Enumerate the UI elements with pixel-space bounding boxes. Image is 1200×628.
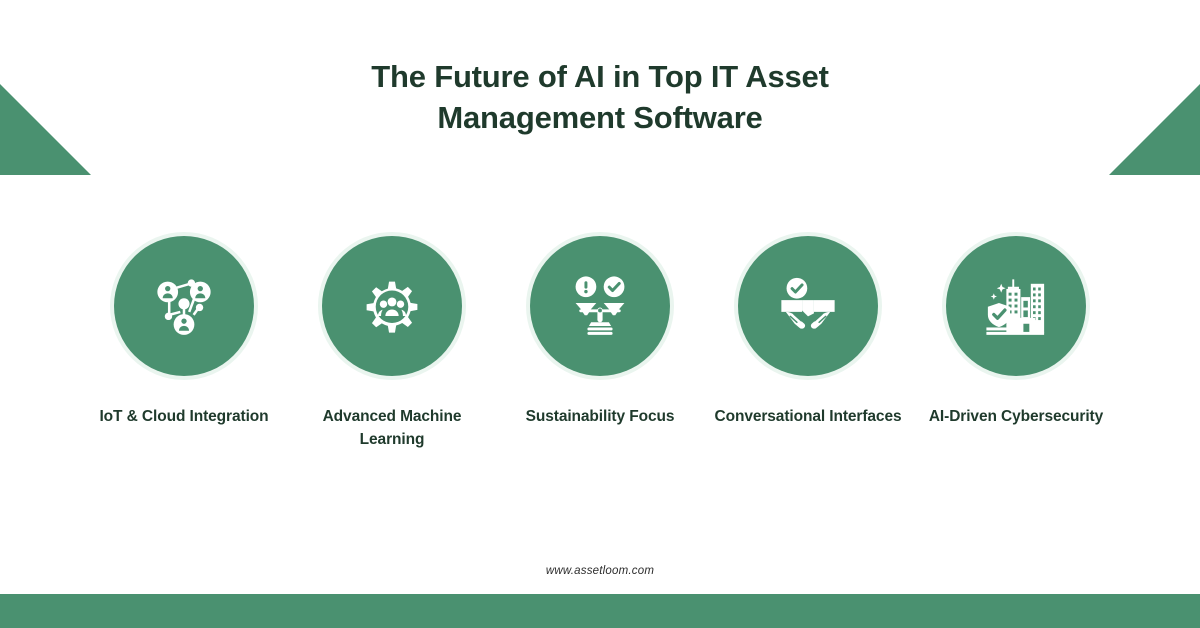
icon-disc	[946, 236, 1086, 376]
gear-people-icon	[355, 269, 429, 343]
list-item: Advanced Machine Learning	[288, 232, 496, 452]
city-shield-check-icon	[979, 269, 1053, 343]
icon-badge	[318, 232, 466, 380]
list-item: IoT & Cloud Integration	[80, 232, 288, 429]
bottom-bar	[0, 594, 1200, 628]
icon-disc	[114, 236, 254, 376]
icon-disc	[322, 236, 462, 376]
icon-badge	[110, 232, 258, 380]
top-right-stripe-decoration	[990, 0, 1200, 175]
list-item-label: Conversational Interfaces	[713, 406, 903, 429]
icon-disc	[530, 236, 670, 376]
balance-scale-icon	[563, 269, 637, 343]
icon-badge	[942, 232, 1090, 380]
icon-badge	[526, 232, 674, 380]
list-item: Sustainability Focus	[496, 232, 704, 429]
list-item-label: IoT & Cloud Integration	[89, 406, 279, 429]
stripe-band	[1071, 0, 1200, 175]
list-item-label: Sustainability Focus	[505, 406, 695, 429]
website-url: www.assetloom.com	[0, 565, 1200, 577]
page-title: The Future of AI in Top IT Asset Managem…	[290, 56, 910, 138]
list-item: AI-Driven Cybersecurity	[912, 232, 1120, 429]
list-item: Conversational Interfaces	[704, 232, 912, 429]
stripe-band	[0, 0, 129, 175]
list-item-label: Advanced Machine Learning	[297, 406, 487, 452]
feature-list: IoT & Cloud Integration	[0, 232, 1200, 452]
icon-badge	[734, 232, 882, 380]
top-left-stripe-decoration	[0, 0, 210, 175]
icon-disc	[738, 236, 878, 376]
list-item-label: AI-Driven Cybersecurity	[921, 406, 1111, 429]
handshake-check-icon	[771, 269, 845, 343]
network-people-icon	[147, 269, 221, 343]
infographic-canvas: The Future of AI in Top IT Asset Managem…	[0, 0, 1200, 628]
